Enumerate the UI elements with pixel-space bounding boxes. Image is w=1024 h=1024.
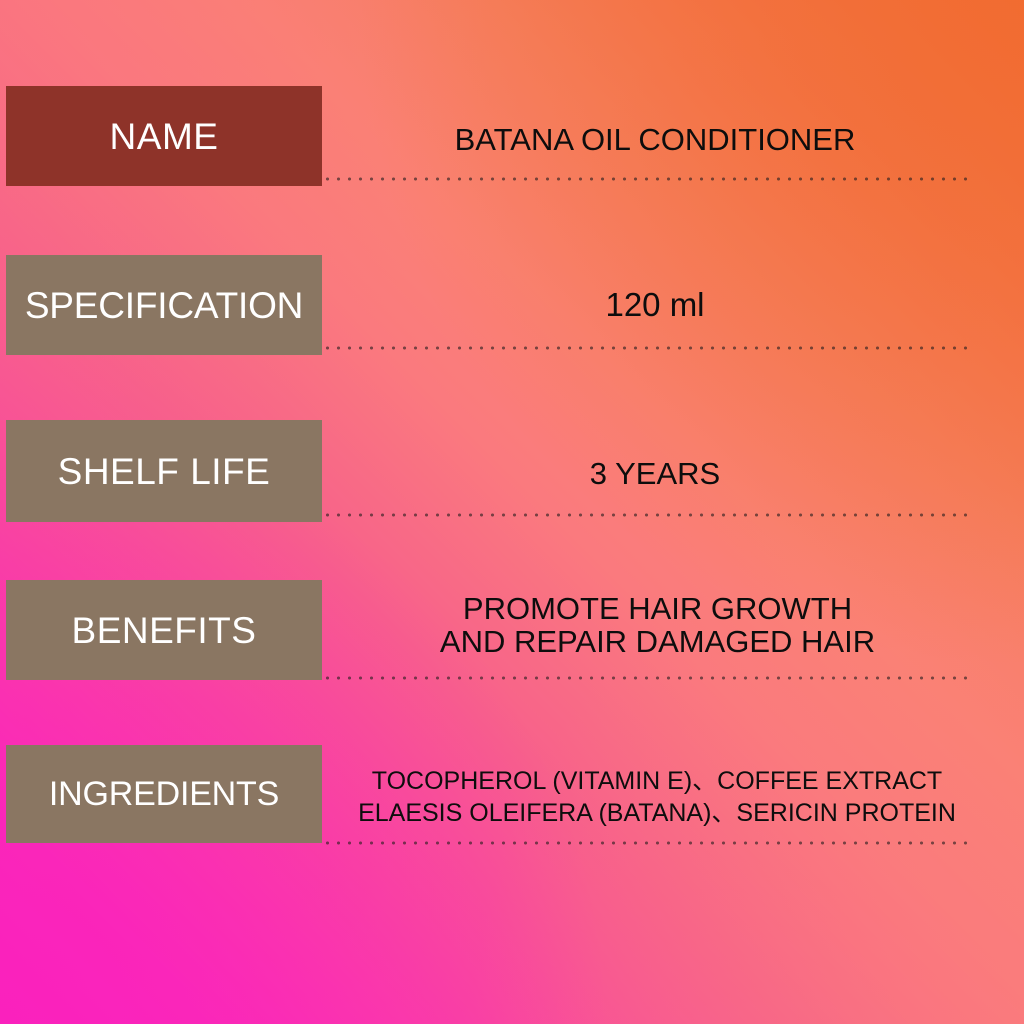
spec-label-text-specification: SPECIFICATION: [25, 287, 303, 324]
spec-value-shelf-life: 3 YEARS: [330, 458, 980, 489]
spec-label-box-shelf-life: SHELF LIFE: [6, 420, 322, 522]
product-spec-infographic: NAME BATANA OIL CONDITIONER SPECIFICATIO…: [0, 0, 1024, 1024]
spec-divider-shelf-life: [322, 513, 970, 517]
spec-divider-specification: [322, 346, 970, 350]
spec-label-box-benefits: BENEFITS: [6, 580, 322, 680]
spec-label-box-name: NAME: [6, 86, 322, 186]
spec-label-text-ingredients: INGREDIENTS: [49, 777, 279, 811]
spec-label-box-ingredients: INGREDIENTS: [6, 745, 322, 843]
spec-label-text-benefits: BENEFITS: [72, 612, 257, 649]
spec-label-text-name: NAME: [110, 118, 219, 155]
spec-value-ingredients: TOCOPHEROL (VITAMIN E)、COFFEE EXTRACT EL…: [326, 765, 988, 829]
spec-label-box-specification: SPECIFICATION: [6, 255, 322, 355]
spec-value-benefits: PROMOTE HAIR GROWTH AND REPAIR DAMAGED H…: [330, 593, 985, 659]
spec-divider-benefits: [322, 676, 970, 680]
spec-value-specification: 120 ml: [330, 288, 980, 321]
spec-value-name: BATANA OIL CONDITIONER: [330, 124, 980, 155]
spec-label-text-shelf-life: SHELF LIFE: [58, 453, 271, 490]
spec-divider-name: [322, 177, 970, 181]
spec-divider-ingredients: [322, 841, 970, 845]
